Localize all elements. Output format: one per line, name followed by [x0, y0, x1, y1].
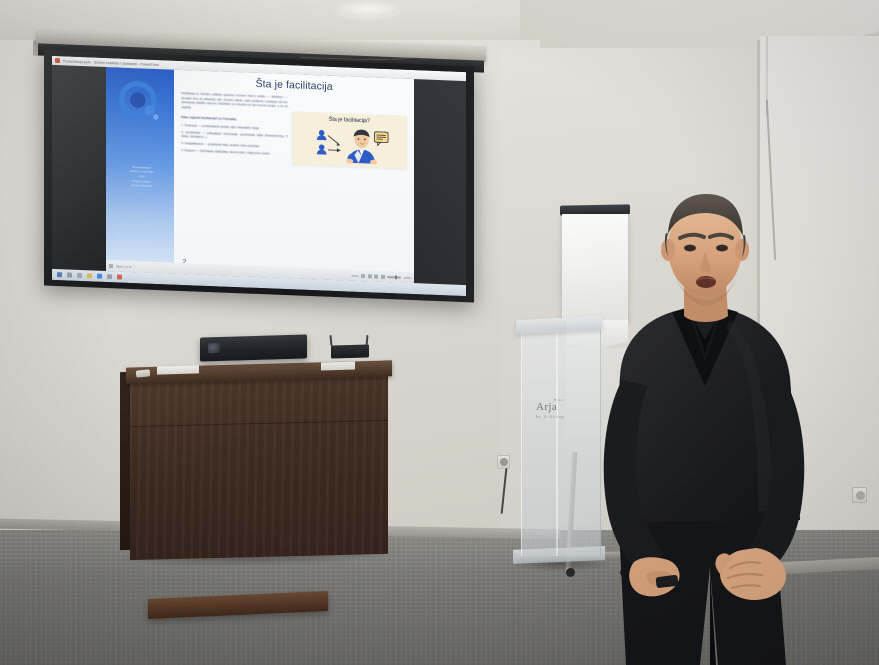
slideshow-icon[interactable]: [381, 274, 385, 278]
slide: Sistem kvaliteta i standardi poslovanja …: [106, 67, 414, 283]
slide-sidebar: Sistem kvaliteta i standardi poslovanja …: [106, 67, 174, 274]
remote-control[interactable]: [136, 369, 150, 377]
papers-on-cabinet: [157, 365, 199, 374]
explorer-icon[interactable]: [87, 273, 92, 278]
slide-view-icon[interactable]: [109, 264, 113, 268]
reading-view-icon[interactable]: [374, 274, 378, 278]
slide-main: Šta je facilitacija Facilitacija je tehn…: [174, 70, 414, 283]
ceiling-light: [336, 2, 400, 17]
projector: [200, 334, 307, 361]
av-cabinet: [130, 374, 388, 560]
slide-paragraph: Facilitacija je tehnika vođenja grupnog …: [181, 91, 287, 114]
powerpoint-icon: [55, 58, 60, 63]
slide-subheading: Kako izgleda facilitacija? (u 4 koraka): [181, 115, 287, 123]
q-logo-icon: [117, 80, 162, 127]
sorter-view-icon[interactable]: [368, 274, 372, 278]
wall-outlet-icon: [852, 487, 867, 503]
lectern-edge: [556, 330, 558, 556]
papers-on-cabinet-right: [321, 362, 355, 371]
status-slide-label: Slide 2 of 12: [116, 264, 132, 269]
slide-canvas[interactable]: Sistem kvaliteta i standardi poslovanja …: [106, 67, 414, 283]
start-icon[interactable]: [57, 272, 62, 277]
projector-lens-icon: [208, 343, 220, 353]
figure-caption: Šta je facilitacija?: [295, 115, 404, 125]
wall-outlet-secondary-icon: [497, 455, 510, 469]
room-scene: Prezentacija.pptx - Sistem kvaliteta i s…: [0, 0, 879, 665]
normal-view-icon[interactable]: [361, 274, 365, 278]
powerpoint-taskbar-icon[interactable]: [117, 274, 122, 279]
zoom-slider[interactable]: [387, 276, 401, 279]
mail-icon[interactable]: [107, 274, 112, 279]
slide-figure: Šta je facilitacija?: [292, 111, 407, 169]
projection-screen: Prezentacija.pptx - Sistem kvaliteta i s…: [44, 50, 474, 303]
sidebar-caption: Sistem kvaliteta i standardi poslovanja …: [114, 165, 169, 190]
status-notes-label[interactable]: Notes: [352, 273, 359, 277]
folder-icon[interactable]: [77, 273, 82, 278]
search-icon[interactable]: [67, 272, 72, 277]
slide-text-column: Facilitacija je tehnika vođenja grupnog …: [181, 91, 287, 164]
lectern-brand-name: Arja: [536, 401, 557, 413]
presenter: [560, 190, 850, 665]
zoom-level: 100%: [404, 275, 411, 279]
browser-icon[interactable]: [97, 274, 102, 279]
facilitator-illustration-icon: [296, 125, 403, 165]
powerpoint-window[interactable]: Prezentacija.pptx - Sistem kvaliteta i s…: [52, 56, 466, 296]
wireless-receiver: [331, 344, 369, 358]
